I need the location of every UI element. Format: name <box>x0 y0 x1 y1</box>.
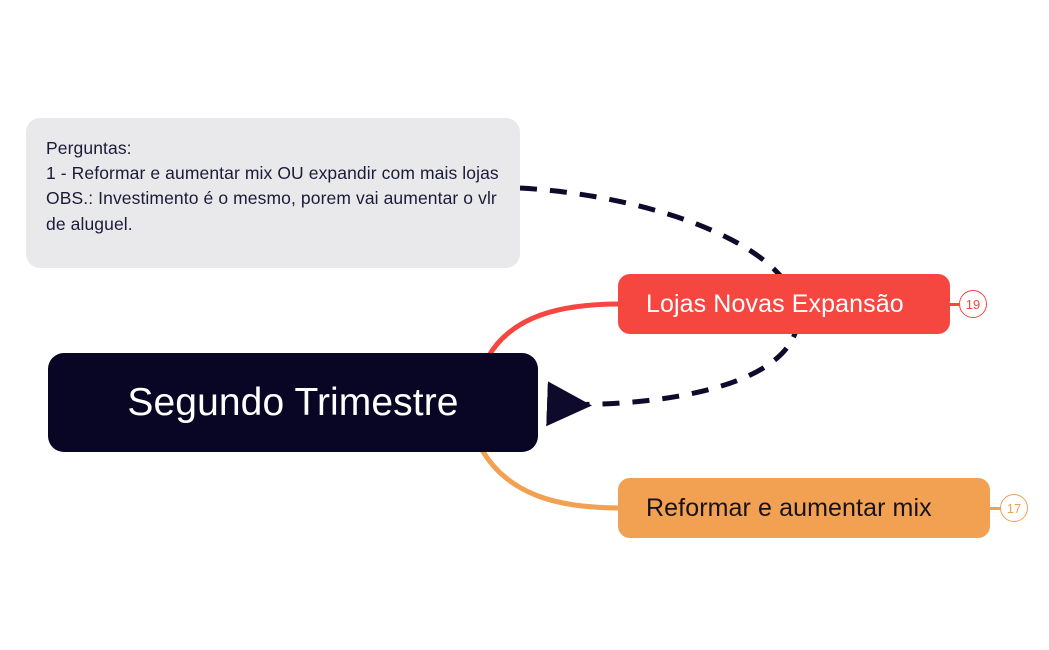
mindmap-canvas: Perguntas: 1 - Reformar e aumentar mix O… <box>0 0 1049 650</box>
note-card[interactable]: Perguntas: 1 - Reformar e aumentar mix O… <box>26 118 520 268</box>
node-lojas-novas-expansao[interactable]: Lojas Novas Expansão <box>618 274 950 334</box>
node-reformar-aumentar-mix[interactable]: Reformar e aumentar mix <box>618 478 990 538</box>
badge-count-lojas[interactable]: 19 <box>959 290 987 318</box>
badge-count-reformar[interactable]: 17 <box>1000 494 1028 522</box>
badge-count-reformar-value: 17 <box>1007 501 1021 516</box>
node-root[interactable]: Segundo Trimestre <box>48 353 538 452</box>
node-lojas-novas-expansao-label: Lojas Novas Expansão <box>646 290 904 319</box>
node-reformar-aumentar-mix-label: Reformar e aumentar mix <box>646 494 932 523</box>
badge-count-lojas-value: 19 <box>966 297 980 312</box>
note-text: Perguntas: 1 - Reformar e aumentar mix O… <box>46 136 500 237</box>
connector-root-to-red <box>488 304 620 357</box>
connector-root-to-orange <box>482 450 620 508</box>
node-root-label: Segundo Trimestre <box>127 381 458 425</box>
